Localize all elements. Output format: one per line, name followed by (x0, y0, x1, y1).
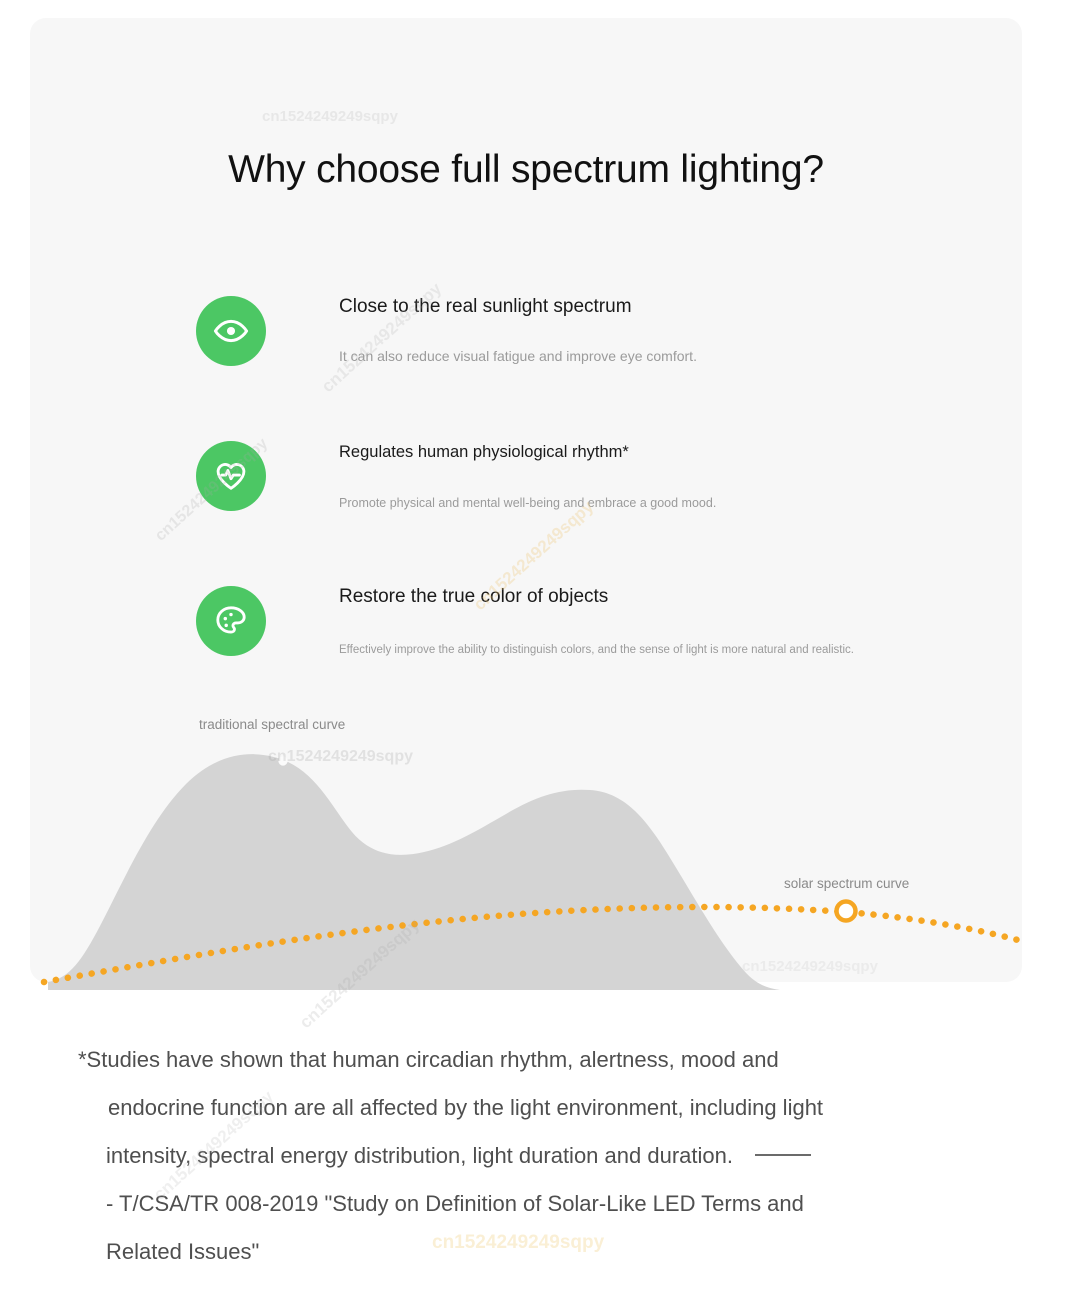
feature-text-block: Regulates human physiological rhythm* Pr… (339, 433, 979, 513)
eye-icon (196, 296, 266, 366)
feature-description: Promote physical and mental well-being a… (339, 465, 979, 513)
footnote-line: *Studies have shown that human circadian… (78, 1036, 998, 1084)
footnote-line: intensity, spectral energy distribution,… (78, 1132, 998, 1180)
feature-title: Restore the true color of objects (339, 578, 979, 610)
solar-curve-marker (837, 902, 856, 921)
feature-title: Regulates human physiological rhythm* (339, 433, 979, 465)
feature-item-sunlight-spectrum: Close to the real sunlight spectrum It c… (196, 288, 996, 433)
footnote-text: endocrine function are all affected by t… (108, 1095, 823, 1120)
spectrum-chart (0, 690, 1080, 1010)
feature-list: Close to the real sunlight spectrum It c… (196, 288, 996, 723)
feature-text-block: Restore the true color of objects Effect… (339, 578, 979, 660)
traditional-curve-label: traditional spectral curve (199, 717, 345, 732)
feature-title: Close to the real sunlight spectrum (339, 288, 979, 320)
traditional-spectral-curve-area (48, 754, 1022, 990)
page-title: Why choose full spectrum lighting? (30, 148, 1022, 192)
citation-text: Related Issues" (106, 1239, 259, 1264)
feature-item-physiological-rhythm: Regulates human physiological rhythm* Pr… (196, 433, 996, 578)
color-palette-icon (196, 586, 266, 656)
footnote-text: *Studies have shown that human circadian… (78, 1047, 779, 1072)
footnote-line: endocrine function are all affected by t… (78, 1084, 998, 1132)
feature-description: It can also reduce visual fatigue and im… (339, 320, 979, 366)
solar-curve-label: solar spectrum curve (784, 876, 909, 891)
footnote-block: *Studies have shown that human circadian… (78, 1036, 998, 1276)
footnote-text: intensity, spectral energy distribution,… (106, 1143, 733, 1168)
footnote-dash-rule (755, 1154, 811, 1156)
heart-pulse-icon (196, 441, 266, 511)
feature-description: Effectively improve the ability to disti… (339, 610, 979, 660)
citation-text: - T/CSA/TR 008-2019 "Study on Definition… (106, 1191, 804, 1216)
traditional-curve-marker (278, 756, 287, 765)
feature-text-block: Close to the real sunlight spectrum It c… (339, 288, 979, 366)
citation-line: - T/CSA/TR 008-2019 "Study on Definition… (78, 1180, 998, 1228)
citation-line: Related Issues" (78, 1228, 998, 1276)
